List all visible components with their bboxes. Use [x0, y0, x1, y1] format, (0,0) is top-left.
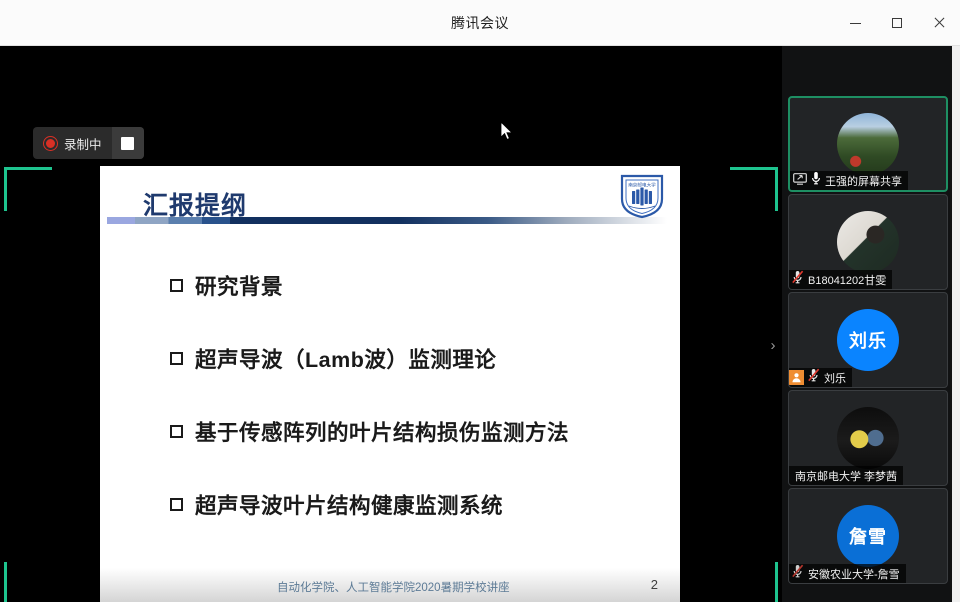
slide-bullet-list: 研究背景 超声导波（Lamb波）监测理论 基于传感阵列的叶片结构损伤监测方法 超… [170, 270, 670, 562]
close-button[interactable] [918, 0, 960, 46]
participant-status-bar: 刘乐 [789, 368, 852, 387]
participant-status-bar: 安徽农业大学-詹雪 [789, 564, 906, 583]
window-title: 腾讯会议 [451, 13, 509, 33]
participants-panel: 王强的屏幕共享 B18041202甘雯 [782, 46, 952, 602]
bullet-text: 基于传感阵列的叶片结构损伤监测方法 [195, 416, 569, 447]
participant-name: 南京邮电大学 李梦茜 [795, 468, 897, 484]
shared-screen-stage: 录制中 汇报提纲 南京邮电大学 [0, 46, 782, 602]
participant-tile[interactable]: B18041202甘雯 [788, 194, 948, 290]
recording-status: 录制中 [33, 127, 112, 159]
recording-dot-icon [44, 137, 57, 150]
stop-square-icon [121, 137, 134, 150]
njupt-shield-logo: 南京邮电大学 [620, 173, 664, 219]
close-icon [933, 17, 945, 29]
participant-name: 安徽农业大学-詹雪 [808, 566, 900, 582]
microphone-icon [811, 171, 821, 190]
microphone-muted-icon [808, 368, 820, 387]
recording-label: 录制中 [64, 134, 102, 153]
maximize-icon [892, 18, 902, 28]
avatar [837, 407, 899, 469]
host-badge-icon [789, 370, 804, 385]
window-right-edge [952, 46, 960, 602]
participant-status-bar: B18041202甘雯 [789, 270, 892, 289]
share-bracket-top-left [4, 167, 52, 211]
microphone-muted-icon [792, 564, 804, 583]
participant-status-bar: 王强的屏幕共享 [790, 171, 908, 190]
maximize-button[interactable] [876, 0, 918, 46]
bullet-square-icon [170, 498, 183, 511]
slide-footer: 自动化学院、人工智能学院2020暑期学校讲座 2 [100, 568, 680, 602]
participant-tile[interactable]: 南京邮电大学 李梦茜 [788, 390, 948, 486]
presentation-slide: 汇报提纲 南京邮电大学 [100, 166, 680, 602]
participant-name: 王强的屏幕共享 [825, 173, 902, 189]
chevron-right-icon: › [771, 337, 776, 354]
slide-page-number: 2 [651, 577, 658, 592]
tencent-meeting-window: 腾讯会议 录制中 [0, 0, 960, 602]
recording-indicator: 录制中 [33, 127, 144, 159]
bullet-text: 超声导波叶片结构健康监测系统 [195, 489, 503, 520]
slide-bullet-item: 超声导波叶片结构健康监测系统 [170, 489, 670, 520]
bullet-square-icon [170, 352, 183, 365]
slide-bullet-item: 超声导波（Lamb波）监测理论 [170, 343, 670, 374]
minimize-icon [850, 23, 861, 24]
slide-bullet-item: 研究背景 [170, 270, 670, 301]
title-underline-bar [107, 217, 667, 224]
microphone-muted-icon [792, 270, 804, 289]
participant-name: 刘乐 [824, 370, 846, 386]
participant-status-bar: 南京邮电大学 李梦茜 [789, 466, 903, 485]
window-controls [834, 0, 960, 46]
slide-bullet-item: 基于传感阵列的叶片结构损伤监测方法 [170, 416, 670, 447]
avatar [837, 113, 899, 175]
participant-tile[interactable]: 詹雪 安徽农业大学-詹雪 [788, 488, 948, 584]
bullet-square-icon [170, 279, 183, 292]
avatar [837, 211, 899, 273]
minimize-button[interactable] [834, 0, 876, 46]
bullet-text: 研究背景 [195, 270, 283, 301]
participant-tile[interactable]: 王强的屏幕共享 [788, 96, 948, 192]
svg-text:南京邮电大学: 南京邮电大学 [628, 182, 656, 189]
participant-tile[interactable]: 刘乐 刘乐 [788, 292, 948, 388]
title-bar: 腾讯会议 [0, 0, 960, 46]
stop-recording-button[interactable] [112, 127, 144, 159]
slide-footer-text: 自动化学院、人工智能学院2020暑期学校讲座 [277, 579, 510, 595]
share-bracket-top-right [730, 167, 778, 211]
bullet-text: 超声导波（Lamb波）监测理论 [195, 343, 496, 374]
screen-share-icon [793, 172, 807, 190]
bullet-square-icon [170, 425, 183, 438]
mouse-cursor [501, 122, 513, 141]
participant-name: B18041202甘雯 [808, 272, 886, 288]
avatar: 詹雪 [837, 505, 899, 567]
share-bracket-bottom-right [730, 562, 778, 602]
share-bracket-bottom-left [4, 562, 52, 602]
collapse-panel-button[interactable]: › [764, 332, 782, 358]
avatar: 刘乐 [837, 309, 899, 371]
